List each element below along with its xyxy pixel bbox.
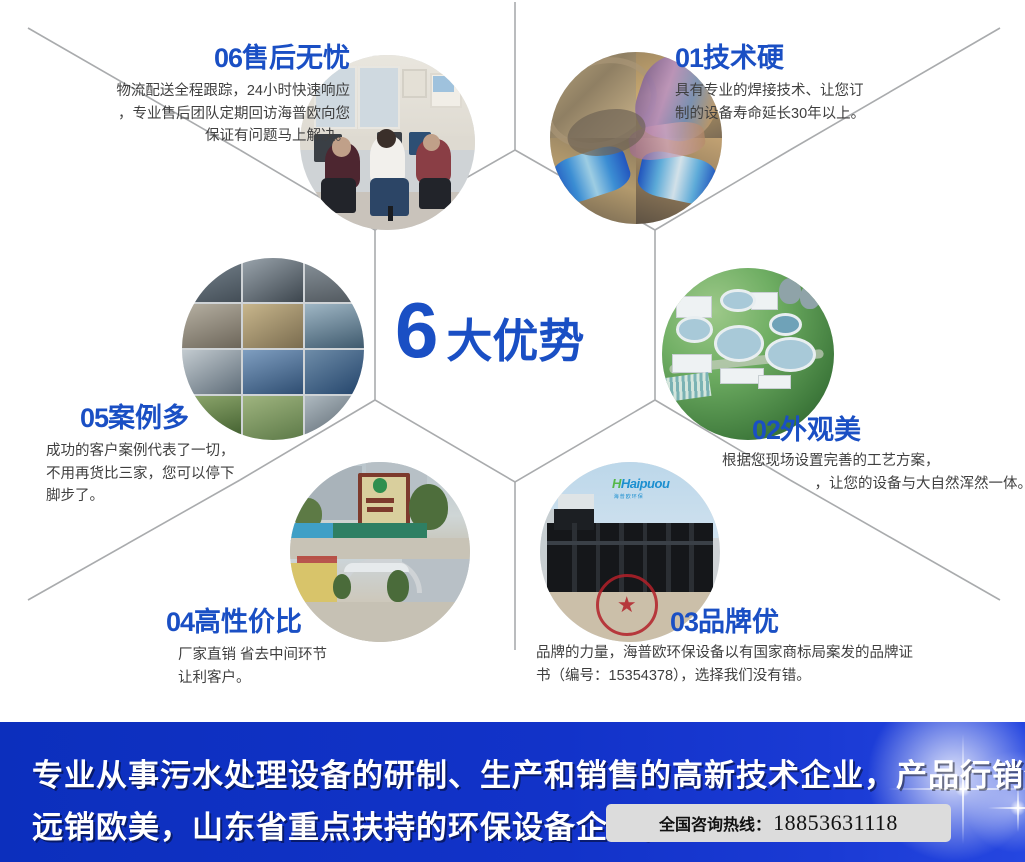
feature-04-title: 04高性价比 xyxy=(60,608,360,636)
feature-05-body: 成功的客户案例代表了一切， 不用再货比三家，您可以停下 脚步了。 xyxy=(20,440,310,507)
feature-02: 02外观美 根据您现场设置完善的工艺方案， ，让您的设备与大自然浑然一体。 xyxy=(752,416,1025,495)
hotline-label: 全国咨询热线： xyxy=(659,811,771,835)
arm-bottom-right xyxy=(790,480,1000,600)
feature-04-body: 厂家直销 省去中间环节 让利客户。 xyxy=(60,644,360,689)
feature-06: 06售后无忧 物流配送全程跟踪，24小时快速响应 ，专业售后团队定期回访海普欧向… xyxy=(20,44,350,148)
center-text: 大优势 xyxy=(446,305,584,371)
center-title: 6 大优势 xyxy=(395,295,635,371)
feature-06-body: 物流配送全程跟踪，24小时快速响应 ，专业售后团队定期回访海普欧向您 保证有问题… xyxy=(20,80,350,147)
feature-05: 05案例多 成功的客户案例代表了一切， 不用再货比三家，您可以停下 脚步了。 xyxy=(20,404,310,508)
feature-05-title: 05案例多 xyxy=(20,404,310,432)
feature-06-title: 06售后无忧 xyxy=(20,44,350,72)
feature-01: 01技术硬 具有专业的焊接技术、让您订 制的设备寿命延长30年以上。 xyxy=(675,44,1005,125)
hotline-number: 18853631118 xyxy=(773,810,898,836)
banner-line-1: 专业从事污水处理设备的研制、生产和销售的高新技术企业，产品行销全国并 xyxy=(32,750,1025,795)
feature-02-title: 02外观美 xyxy=(752,416,1025,444)
feature-01-body: 具有专业的焊接技术、让您订 制的设备寿命延长30年以上。 xyxy=(675,80,1005,125)
feature-03: 03品牌优 品牌的力量，海普欧环保设备以有国家商标局案发的品牌证 书（编号：15… xyxy=(536,608,1016,687)
hotline-badge[interactable]: 全国咨询热线： 18853631118 xyxy=(606,804,951,842)
feature-03-title: 03品牌优 xyxy=(536,608,1016,636)
feature-04: 04高性价比 厂家直销 省去中间环节 让利客户。 xyxy=(60,608,360,689)
infographic-root: 6 大优势 xyxy=(0,0,1025,862)
banner-line-2: 远销欧美，山东省重点扶持的环保设备企业。 xyxy=(32,802,672,847)
center-number: 6 xyxy=(395,295,436,365)
feature-03-body: 品牌的力量，海普欧环保设备以有国家商标局案发的品牌证 书（编号：15354378… xyxy=(536,642,1016,687)
feature-01-title: 01技术硬 xyxy=(675,44,1005,72)
feature-02-body: 根据您现场设置完善的工艺方案， ，让您的设备与大自然浑然一体。 xyxy=(722,450,1025,495)
haipuou-logo: HHaipuou xyxy=(612,476,669,491)
haipuou-logo-sub: 海普欧环保 xyxy=(614,493,644,500)
